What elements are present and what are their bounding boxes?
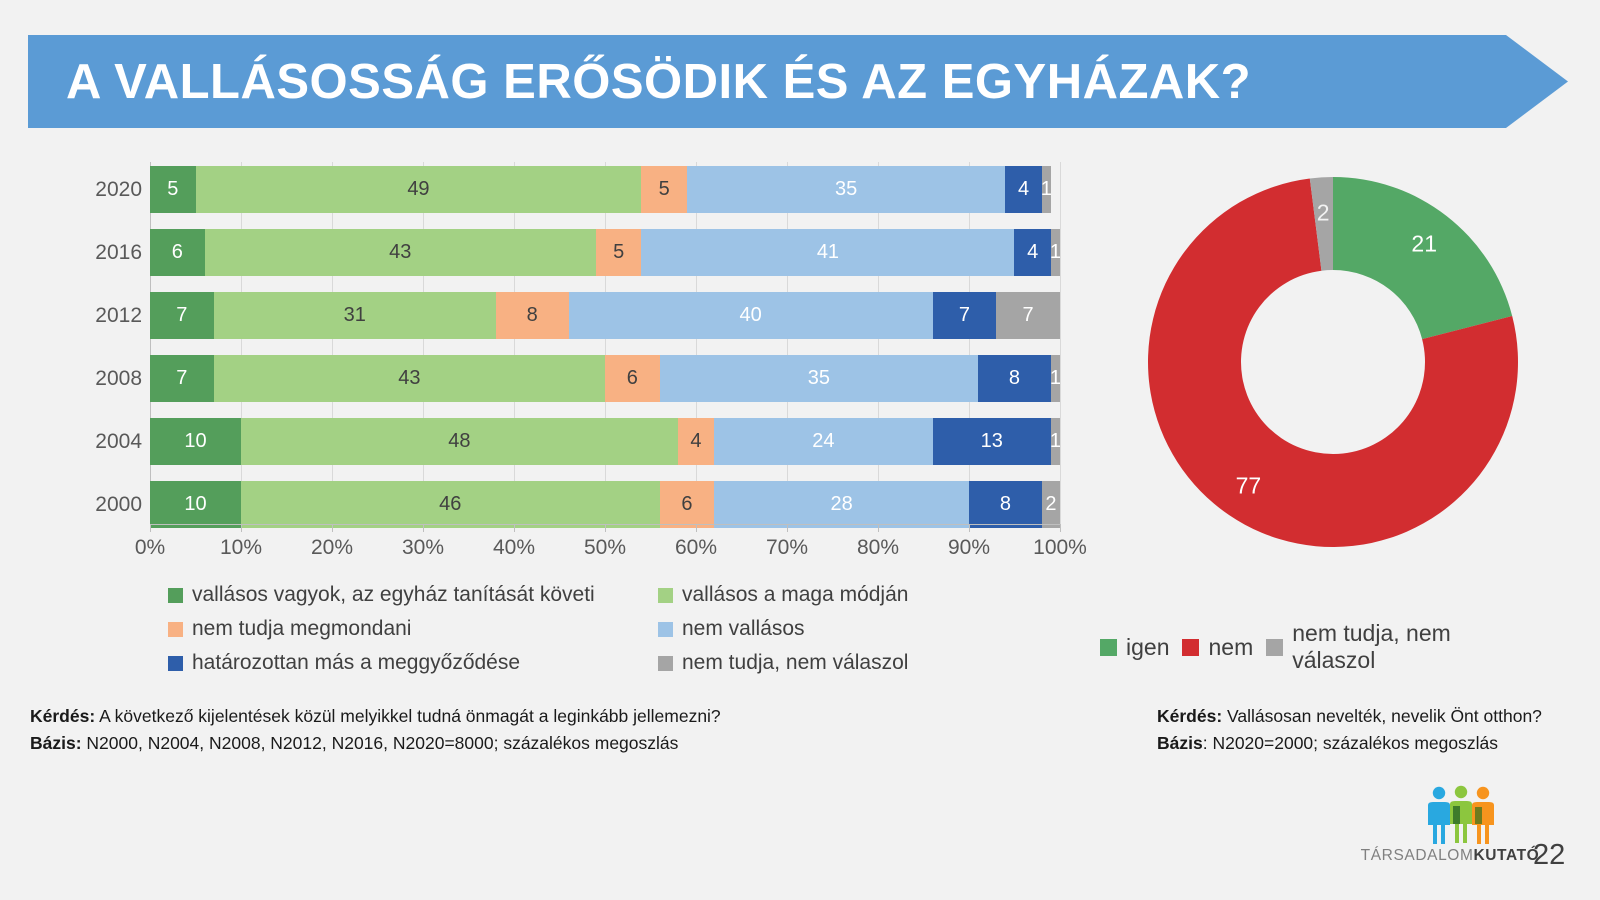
x-axis-tick-label: 30% [402, 536, 444, 560]
legend-label: vallásos a maga módján [682, 583, 908, 607]
bar-segment: 7 [150, 292, 214, 339]
bar-segment: 1 [1042, 166, 1051, 213]
bar-segment: 5 [150, 166, 196, 213]
footnote-right: Kérdés: Vallásosan nevelték, nevelik Önt… [1157, 703, 1542, 757]
gridline [332, 162, 333, 524]
footnote-left: Kérdés: A következő kijelentések közül m… [30, 703, 721, 757]
x-axis-tick-label: 60% [675, 536, 717, 560]
gridline [605, 162, 606, 524]
donut-legend-label: nem tudja, nem válaszol [1292, 620, 1540, 674]
footnote-text: N2000, N2004, N2008, N2012, N2016, N2020… [82, 733, 679, 753]
bar-segment: 35 [660, 355, 979, 402]
bar-segment: 24 [714, 418, 932, 465]
legend-item[interactable]: nem tudja megmondani [168, 612, 658, 646]
bar-row: 1048424131 [150, 418, 1060, 465]
people-icon [1422, 785, 1502, 845]
x-axis-tick [241, 524, 242, 532]
gridline [423, 162, 424, 524]
legend-label: nem tudja megmondani [192, 617, 411, 641]
bar-segment: 40 [569, 292, 933, 339]
bar-segment: 7 [996, 292, 1060, 339]
page-title: A VALLÁSOSSÁG ERŐSÖDIK ÉS AZ EGYHÁZAK? [66, 54, 1251, 110]
legend-swatch-icon [658, 656, 673, 671]
bar-plot-area: 5495354164354141731840777436358110484241… [150, 162, 1060, 524]
bar-segment: 5 [641, 166, 687, 213]
legend-swatch-icon [168, 588, 183, 603]
footnote-label: Bázis: [30, 733, 82, 753]
y-axis-line [150, 162, 151, 524]
title-banner: A VALLÁSOSSÁG ERŐSÖDIK ÉS AZ EGYHÁZAK? [28, 35, 1568, 128]
logo-text-bold: KUTATÓ [1473, 847, 1539, 864]
bar-segment: 48 [241, 418, 678, 465]
bar-segment: 4 [1014, 229, 1050, 276]
x-axis-tick [150, 524, 151, 532]
bar-segment: 28 [714, 481, 969, 528]
donut-legend-item[interactable]: nem [1182, 634, 1253, 661]
bar-segment: 6 [605, 355, 660, 402]
footnote-text: : N2020=2000; százalékos megoszlás [1203, 733, 1498, 753]
bar-segment: 6 [150, 229, 205, 276]
footnote-text: Vallásosan nevelték, nevelik Önt otthon? [1222, 706, 1542, 726]
donut-chart-svg [1135, 152, 1530, 572]
legend-item[interactable]: nem vallásos [658, 612, 948, 646]
bar-segment: 13 [933, 418, 1051, 465]
footnote-line: Kérdés: Vallásosan nevelték, nevelik Önt… [1157, 703, 1542, 730]
bar-row: 74363581 [150, 355, 1060, 402]
legend-swatch-icon [1266, 639, 1283, 656]
y-axis-label: 2000 [60, 481, 142, 528]
bar-segment: 43 [214, 355, 605, 402]
bar-segment: 43 [205, 229, 596, 276]
x-axis-tick [1060, 524, 1061, 532]
gridline [878, 162, 879, 524]
bar-segment: 8 [978, 355, 1051, 402]
gridline [514, 162, 515, 524]
x-axis-tick [423, 524, 424, 532]
bar-segment: 10 [150, 481, 241, 528]
x-axis-tick-label: 90% [948, 536, 990, 560]
legend-swatch-icon [168, 656, 183, 671]
legend-swatch-icon [658, 622, 673, 637]
bar-segment: 31 [214, 292, 496, 339]
legend-label: nem vallásos [682, 617, 805, 641]
x-axis-tick-label: 10% [220, 536, 262, 560]
legend-label: vallásos vagyok, az egyház tanítását köv… [192, 583, 595, 607]
legend-item[interactable]: vallásos vagyok, az egyház tanítását köv… [168, 578, 658, 612]
x-axis-tick-label: 50% [584, 536, 626, 560]
gridline [1060, 162, 1061, 524]
bar-segment: 7 [150, 355, 214, 402]
donut-value-label: 2 [1317, 199, 1330, 226]
y-axis-label: 2016 [60, 229, 142, 276]
donut-value-label: 77 [1236, 472, 1262, 499]
donut-legend-label: igen [1126, 634, 1169, 661]
y-axis-label: 2004 [60, 418, 142, 465]
donut-chart: 21772 [1135, 152, 1530, 572]
bar-segment: 6 [660, 481, 715, 528]
x-axis-labels: 0%10%20%30%40%50%60%70%80%90%100% [60, 536, 1100, 566]
bar-segment: 8 [969, 481, 1042, 528]
legend-label: nem tudja, nem válaszol [682, 651, 908, 675]
legend-swatch-icon [1182, 639, 1199, 656]
bar-segment: 2 [1042, 481, 1060, 528]
x-axis-tick [332, 524, 333, 532]
x-axis-tick [514, 524, 515, 532]
bar-row: 73184077 [150, 292, 1060, 339]
x-axis-ticks [150, 524, 1061, 532]
gridline [969, 162, 970, 524]
donut-slice [1333, 177, 1512, 339]
bar-segment: 49 [196, 166, 642, 213]
bar-segment: 4 [678, 418, 714, 465]
x-axis-tick [969, 524, 970, 532]
footnote-label: Bázis [1157, 733, 1203, 753]
x-axis-tick-label: 40% [493, 536, 535, 560]
legend-label: határozottan más a meggyőződése [192, 651, 520, 675]
bar-segment: 8 [496, 292, 569, 339]
chart-gridlines [150, 162, 1060, 524]
bar-segment: 1 [1051, 418, 1060, 465]
x-axis-tick-label: 20% [311, 536, 353, 560]
bar-chart-legend: vallásos vagyok, az egyház tanítását köv… [168, 578, 948, 680]
y-axis-label: 2012 [60, 292, 142, 339]
donut-legend-item[interactable]: igen [1100, 634, 1169, 661]
y-axis-label: 2020 [60, 166, 142, 213]
legend-swatch-icon [1100, 639, 1117, 656]
x-axis-tick-label: 0% [135, 536, 165, 560]
legend-swatch-icon [168, 622, 183, 637]
bar-segment: 10 [150, 418, 241, 465]
bar-segment: 1 [1051, 355, 1060, 402]
footnote-line: Bázis: N2000, N2004, N2008, N2012, N2016… [30, 730, 721, 757]
x-axis-tick-label: 80% [857, 536, 899, 560]
gridline [696, 162, 697, 524]
bar-segment: 1 [1051, 229, 1060, 276]
bar-segment: 4 [1005, 166, 1041, 213]
x-axis-tick-label: 100% [1033, 536, 1087, 560]
bar-segment: 46 [241, 481, 660, 528]
footnote-text: A következő kijelentések közül melyikkel… [95, 706, 721, 726]
footnote-label: Kérdés: [30, 706, 95, 726]
x-axis-tick [696, 524, 697, 532]
legend-swatch-icon [658, 588, 673, 603]
logo: TÁRSADALOMKUTATÓ 22 [1355, 785, 1575, 875]
footnote-line: Bázis: N2020=2000; százalékos megoszlás [1157, 730, 1542, 757]
bar-segment: 7 [933, 292, 997, 339]
bar-row: 104662882 [150, 481, 1060, 528]
legend-item[interactable]: határozottan más a meggyőződése [168, 646, 658, 680]
bar-segment: 5 [596, 229, 642, 276]
bar-row: 64354141 [150, 229, 1060, 276]
donut-legend-item[interactable]: nem tudja, nem válaszol [1266, 620, 1540, 674]
legend-item[interactable]: vallásos a maga módján [658, 578, 948, 612]
x-axis-tick [605, 524, 606, 532]
logo-text: TÁRSADALOMKUTATÓ [1355, 847, 1545, 865]
x-axis-tick-label: 70% [766, 536, 808, 560]
footnote-label: Kérdés: [1157, 706, 1222, 726]
legend-item[interactable]: nem tudja, nem válaszol [658, 646, 948, 680]
x-axis-tick [878, 524, 879, 532]
x-axis-tick [787, 524, 788, 532]
bar-segment: 35 [687, 166, 1006, 213]
logo-text-light: TÁRSADALOM [1361, 847, 1474, 864]
gridline [241, 162, 242, 524]
stacked-bar-chart: 5495354164354141731840777436358110484241… [60, 158, 1100, 578]
bar-segment: 41 [641, 229, 1014, 276]
donut-legend-label: nem [1208, 634, 1253, 661]
gridline [787, 162, 788, 524]
donut-value-label: 21 [1411, 230, 1437, 257]
y-axis-label: 2008 [60, 355, 142, 402]
page-number: 22 [1533, 839, 1565, 872]
slide-root: A VALLÁSOSSÁG ERŐSÖDIK ÉS AZ EGYHÁZAK? 5… [0, 0, 1600, 900]
donut-chart-legend: igennemnem tudja, nem válaszol [1100, 620, 1540, 674]
footnote-line: Kérdés: A következő kijelentések közül m… [30, 703, 721, 730]
bar-row: 54953541 [150, 166, 1060, 213]
